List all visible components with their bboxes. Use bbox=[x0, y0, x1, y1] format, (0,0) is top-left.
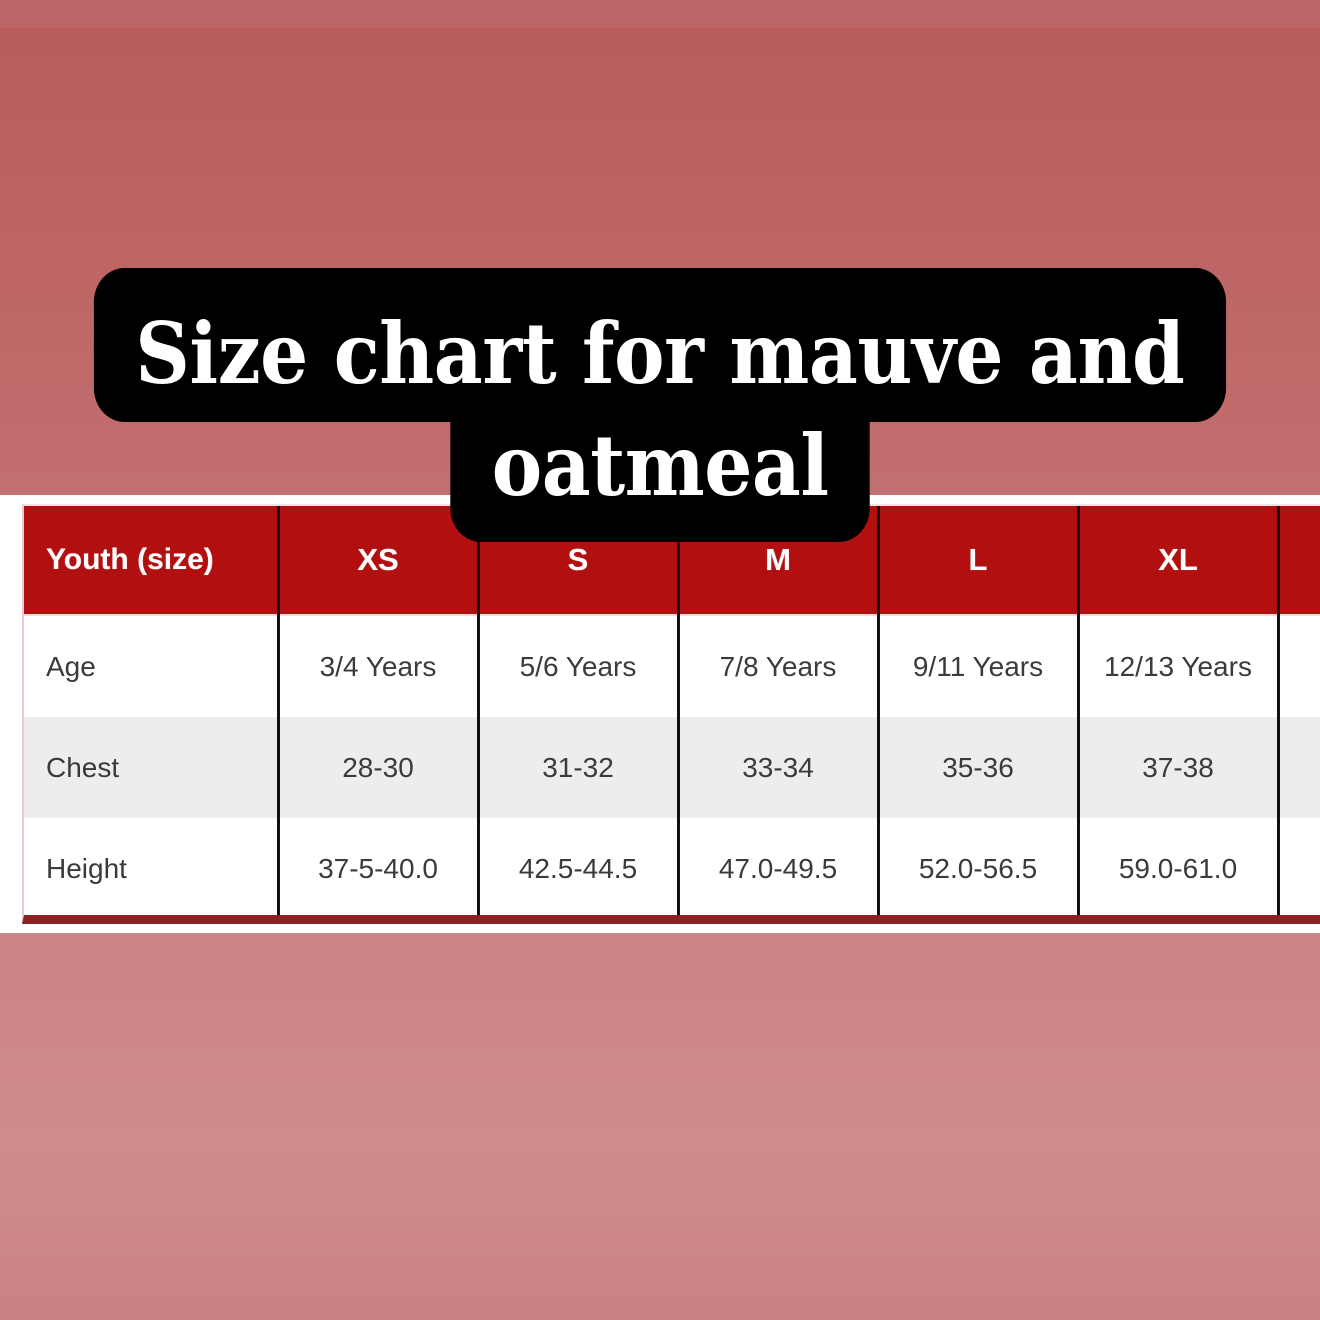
cell-age-xl: 12/13 Years bbox=[1078, 615, 1278, 717]
column-header-overflow bbox=[1278, 506, 1320, 615]
size-chart-table: Youth (size) XS S M L XL Age 3/4 Years 5… bbox=[24, 506, 1320, 919]
cell-age-m: 7/8 Years bbox=[678, 615, 878, 717]
column-header-xl: XL bbox=[1078, 506, 1278, 615]
header-row: Youth (size) XS S M L XL bbox=[24, 506, 1320, 615]
column-header-xs: XS bbox=[278, 506, 478, 615]
cell-chest-overflow bbox=[1278, 717, 1320, 818]
table-row: Chest 28-30 31-32 33-34 35-36 37-38 bbox=[24, 717, 1320, 818]
cell-height-l: 52.0-56.5 bbox=[878, 818, 1078, 919]
table-row: Age 3/4 Years 5/6 Years 7/8 Years 9/11 Y… bbox=[24, 615, 1320, 717]
column-header-l: L bbox=[878, 506, 1078, 615]
cell-height-s: 42.5-44.5 bbox=[478, 818, 678, 919]
cell-chest-m: 33-34 bbox=[678, 717, 878, 818]
cell-chest-s: 31-32 bbox=[478, 717, 678, 818]
background-lower bbox=[0, 933, 1320, 1320]
column-header-s: S bbox=[478, 506, 678, 615]
table-header: Youth (size) XS S M L XL bbox=[24, 506, 1320, 615]
size-chart-image: Youth (size) XS S M L XL Age 3/4 Years 5… bbox=[0, 0, 1320, 1320]
cell-age-l: 9/11 Years bbox=[878, 615, 1078, 717]
row-label-age: Age bbox=[24, 615, 278, 717]
column-header-m: M bbox=[678, 506, 878, 615]
row-label-chest: Chest bbox=[24, 717, 278, 818]
table-body: Age 3/4 Years 5/6 Years 7/8 Years 9/11 Y… bbox=[24, 615, 1320, 919]
cell-age-xs: 3/4 Years bbox=[278, 615, 478, 717]
column-header-youth-size: Youth (size) bbox=[24, 506, 278, 615]
row-label-height: Height bbox=[24, 818, 278, 919]
cell-chest-xs: 28-30 bbox=[278, 717, 478, 818]
cell-height-xl: 59.0-61.0 bbox=[1078, 818, 1278, 919]
cell-height-overflow bbox=[1278, 818, 1320, 919]
table-row: Height 37-5-40.0 42.5-44.5 47.0-49.5 52.… bbox=[24, 818, 1320, 919]
cell-chest-xl: 37-38 bbox=[1078, 717, 1278, 818]
size-chart-card: Youth (size) XS S M L XL Age 3/4 Years 5… bbox=[0, 495, 1320, 933]
cell-age-s: 5/6 Years bbox=[478, 615, 678, 717]
size-chart-table-wrapper: Youth (size) XS S M L XL Age 3/4 Years 5… bbox=[22, 504, 1320, 924]
cell-height-m: 47.0-49.5 bbox=[678, 818, 878, 919]
cell-height-xs: 37-5-40.0 bbox=[278, 818, 478, 919]
background-upper bbox=[0, 28, 1320, 500]
cell-chest-l: 35-36 bbox=[878, 717, 1078, 818]
cell-age-overflow bbox=[1278, 615, 1320, 717]
background-top-strip bbox=[0, 0, 1320, 28]
